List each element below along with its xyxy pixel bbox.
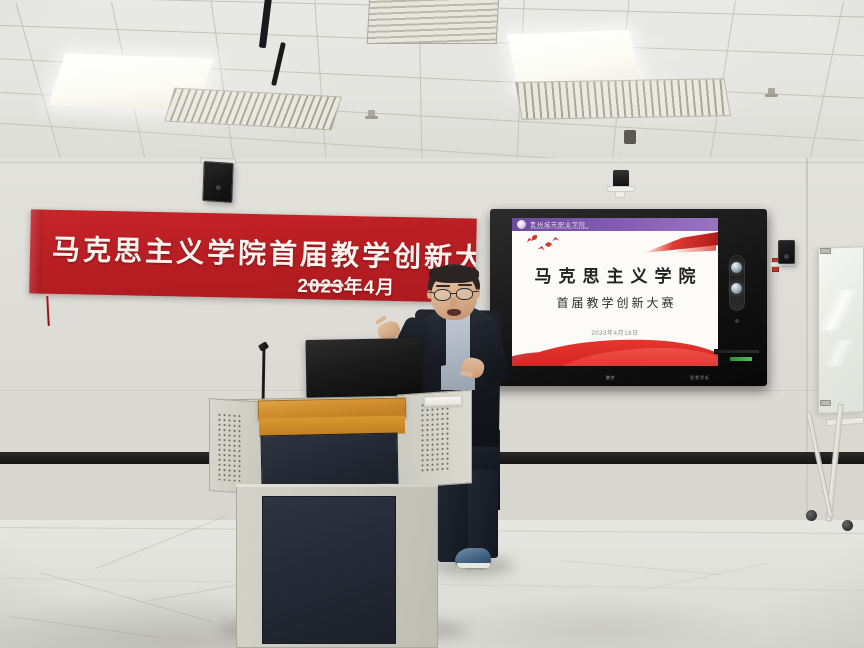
wall-corner-right xyxy=(806,158,808,530)
podium-upper-panel xyxy=(260,433,398,488)
smartboard-screen[interactable]: 贵州城市职业学院 GUIZHOU CITY VOCATIONAL COLLEGE… xyxy=(512,218,718,366)
louvered-light-fixture-right xyxy=(515,78,731,120)
banner-main-text: 马克思主义学院首届教学创新大赛 xyxy=(52,228,477,278)
sprinkler-head-left xyxy=(368,110,375,119)
person-hair-front xyxy=(429,266,479,283)
status-led xyxy=(730,357,752,361)
person-leg-right xyxy=(468,470,498,558)
petal-decoration-2 xyxy=(545,241,552,248)
petal-decoration-1 xyxy=(532,235,537,240)
bird-decoration-3 xyxy=(552,237,559,242)
smartboard: 贵州城市职业学院 GUIZHOU CITY VOCATIONAL COLLEGE… xyxy=(490,209,767,386)
ceiling-camera xyxy=(613,170,629,187)
podium-speaker-grille-left xyxy=(217,412,243,482)
wall-speaker-right xyxy=(778,240,795,264)
banner-sub-text: 2023年4月 xyxy=(297,271,395,300)
event-banner: 马克思主义学院首届教学创新大赛 2023年4月 xyxy=(29,209,477,302)
slide-date: 2023年4月18日 xyxy=(512,328,718,337)
glasses-lens-left xyxy=(434,289,451,301)
podium-speaker-grille-right xyxy=(420,401,450,473)
flipchart-clip-top xyxy=(820,248,831,254)
camera-mount-foot xyxy=(615,191,625,198)
slide-subtitle: 首届教学创新大赛 xyxy=(512,294,718,311)
paper-on-podium[interactable] xyxy=(424,395,462,406)
university-logo-icon xyxy=(517,220,526,229)
power-dial-button[interactable] xyxy=(730,261,743,274)
person-brow-right xyxy=(458,284,472,286)
slide-title: 马克思主义学院 xyxy=(512,262,718,287)
smartboard-brand-left: 触控 xyxy=(606,375,615,381)
flipchart-sheen-2 xyxy=(820,339,864,367)
wall-speaker-left xyxy=(202,161,233,203)
glasses-bridge xyxy=(450,293,457,294)
podium-edge-highlight xyxy=(236,484,438,487)
smoke-detector xyxy=(624,130,636,144)
bird-decoration-2 xyxy=(538,245,546,250)
person-nose xyxy=(450,298,457,307)
flipchart-wheel-right xyxy=(842,520,853,531)
ir-sensor-icon xyxy=(735,319,739,323)
person-mouth xyxy=(447,309,461,316)
classroom-photo-scene: 马克思主义学院首届教学创新大赛 2023年4月 贵州城市职业学院 GUIZHOU… xyxy=(0,0,864,648)
monitor[interactable] xyxy=(306,338,423,398)
slide-university-name-en: GUIZHOU CITY VOCATIONAL COLLEGE xyxy=(531,227,589,230)
smartboard-brand: 智慧黑板 xyxy=(690,375,710,381)
source-dial-button[interactable] xyxy=(730,282,743,295)
flipchart-wheel-left xyxy=(806,510,817,521)
flipchart-sheen xyxy=(820,289,864,331)
flipchart-clip-bottom xyxy=(820,400,831,406)
hvac-vent xyxy=(367,0,500,44)
podium-lower-panel xyxy=(262,496,396,644)
ceiling xyxy=(0,0,864,164)
person-brow-left xyxy=(436,285,450,287)
smartboard-port-strip xyxy=(714,349,760,354)
sprinkler-head-right xyxy=(768,88,775,97)
glasses-lens-right xyxy=(456,288,473,300)
slide-header-bar: 贵州城市职业学院 GUIZHOU CITY VOCATIONAL COLLEGE xyxy=(512,218,718,231)
person-shoe-sole xyxy=(457,563,490,568)
